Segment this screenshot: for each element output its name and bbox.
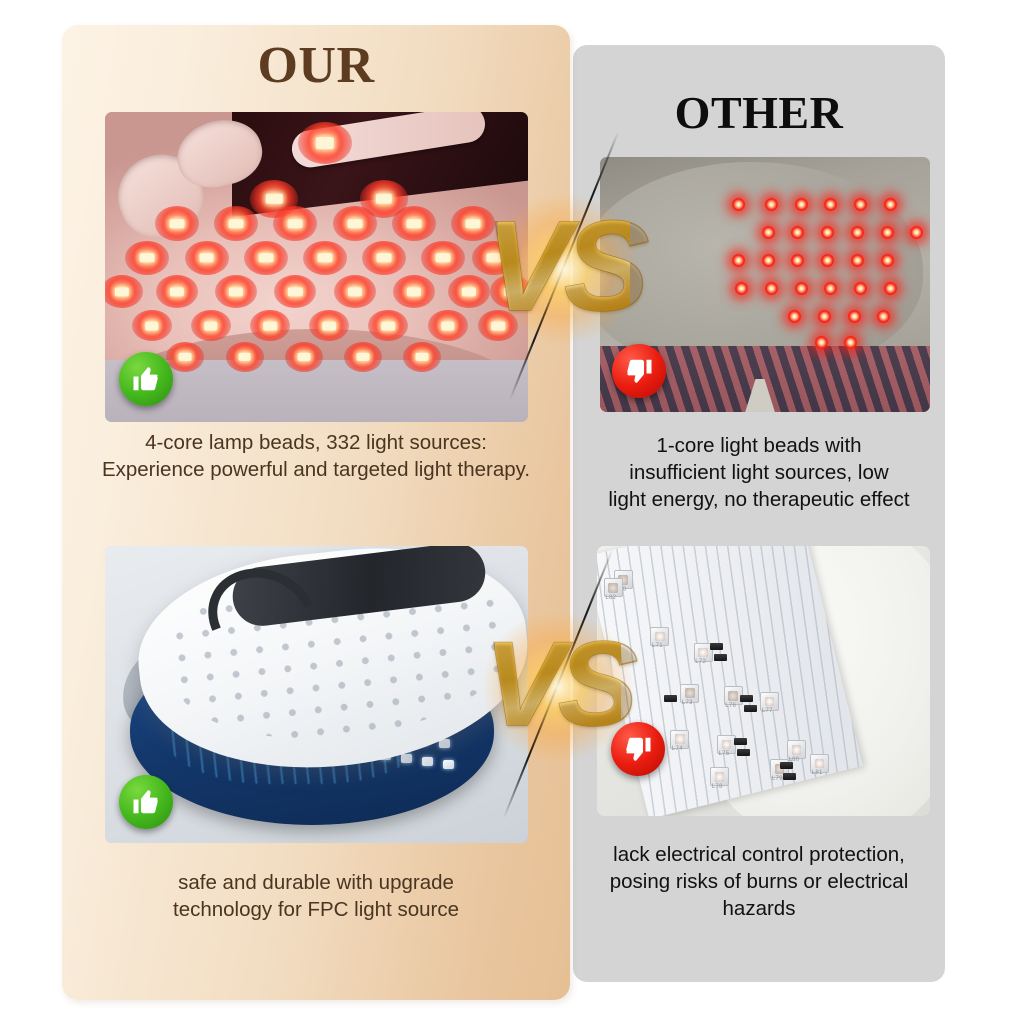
comparison-infographic: OUR OTHER xyxy=(0,0,1024,1024)
thumbs-down-icon xyxy=(623,734,653,764)
silkscreen-label: L73 xyxy=(682,700,693,706)
silkscreen-label: L71 xyxy=(652,643,663,649)
thumbs-up-icon xyxy=(131,787,161,817)
led-bead xyxy=(214,206,258,240)
caption-line: insufficient light sources, low xyxy=(578,459,940,486)
thumbs-down-badge xyxy=(611,722,665,776)
led-dot xyxy=(910,226,923,239)
led-bead xyxy=(273,206,317,240)
led-bead xyxy=(303,241,347,275)
led-dot xyxy=(765,282,778,295)
led-dot xyxy=(815,336,828,349)
other-title: OTHER xyxy=(573,86,945,139)
resistor xyxy=(783,773,796,780)
thumbs-up-icon xyxy=(131,364,161,394)
led-bead xyxy=(421,241,465,275)
led-bead xyxy=(428,310,468,341)
led-dot xyxy=(795,282,808,295)
led-bead xyxy=(393,275,435,308)
thumbs-up-badge xyxy=(119,775,173,829)
silkscreen-label: L79 xyxy=(772,776,783,782)
led-bead xyxy=(244,241,288,275)
led-bead xyxy=(298,122,352,164)
led-dot xyxy=(881,226,894,239)
resistor xyxy=(744,705,757,712)
silkscreen-label: L77 xyxy=(762,708,773,714)
led-bead xyxy=(392,206,436,240)
led-bead xyxy=(448,275,490,308)
led-dot xyxy=(762,254,775,267)
caption-line: safe and durable with upgrade xyxy=(70,869,562,896)
led-dot xyxy=(732,254,745,267)
led-bead xyxy=(403,342,441,372)
led-bead xyxy=(156,275,198,308)
led-bead xyxy=(344,342,382,372)
led-dot xyxy=(732,198,745,211)
led-dot xyxy=(818,310,831,323)
led-bead xyxy=(362,241,406,275)
led-bead xyxy=(125,241,169,275)
led-dot xyxy=(821,226,834,239)
thumbs-up-badge xyxy=(119,352,173,406)
silkscreen-label: L76 xyxy=(725,703,736,709)
caption-line: Experience powerful and targeted light t… xyxy=(70,456,562,483)
led-chip xyxy=(422,757,433,766)
our-caption-top: 4-core lamp beads, 332 light sources: Ex… xyxy=(70,429,562,483)
resistor xyxy=(714,654,727,661)
silkscreen-label: L75 xyxy=(719,751,730,757)
resistor xyxy=(780,762,793,769)
our-photo-led-beads xyxy=(105,112,528,422)
caption-line: 1-core light beads with xyxy=(578,432,940,459)
led-dot xyxy=(795,198,808,211)
other-caption-top: 1-core light beads with insufficient lig… xyxy=(578,432,940,513)
led-dot xyxy=(851,254,864,267)
led-dot xyxy=(884,198,897,211)
led-bead xyxy=(285,342,323,372)
silkscreen-label: L81 xyxy=(812,770,823,776)
led-bead xyxy=(226,342,264,372)
led-dot xyxy=(881,254,894,267)
led-bead xyxy=(472,241,516,275)
led-bead xyxy=(185,241,229,275)
other-photo-exposed-pcb: L70L71L72L73L74L75L76L77L78L79L80L81L82 xyxy=(597,546,930,816)
caption-line: technology for FPC light source xyxy=(70,896,562,923)
our-photo-fpc-board xyxy=(105,546,528,843)
led-dot xyxy=(884,282,897,295)
silkscreen-label: L78 xyxy=(712,784,723,790)
caption-line: lack electrical control protection, xyxy=(578,841,940,868)
thumbs-down-badge xyxy=(612,344,666,398)
led-bead xyxy=(334,275,376,308)
other-photo-sparse-leds xyxy=(600,157,930,412)
led-bead xyxy=(166,342,204,372)
other-caption-bottom: lack electrical control protection, posi… xyxy=(578,841,940,922)
resistor xyxy=(740,695,753,702)
led-dot xyxy=(765,198,778,211)
led-bead xyxy=(490,275,528,308)
caption-line: light energy, no therapeutic effect xyxy=(578,486,940,513)
led-dot xyxy=(788,310,801,323)
our-caption-bottom: safe and durable with upgrade technology… xyxy=(70,869,562,923)
competitor-mask-body xyxy=(600,162,923,376)
led-dot xyxy=(854,198,867,211)
led-dot xyxy=(844,336,857,349)
led-dot xyxy=(848,310,861,323)
led-dot xyxy=(854,282,867,295)
caption-line: 4-core lamp beads, 332 light sources: xyxy=(70,429,562,456)
silkscreen-label: L72 xyxy=(695,659,706,665)
led-dot xyxy=(821,254,834,267)
led-bead xyxy=(155,206,199,240)
led-chip xyxy=(443,760,454,769)
resistor xyxy=(664,695,677,702)
resistor xyxy=(734,738,747,745)
led-bead xyxy=(333,206,377,240)
thumbs-down-icon xyxy=(624,356,654,386)
resistor xyxy=(737,749,750,756)
silkscreen-label: L74 xyxy=(672,746,683,752)
our-title: OUR xyxy=(62,36,570,95)
led-bead xyxy=(451,206,495,240)
silkscreen-label: L82 xyxy=(605,595,616,601)
led-bead xyxy=(132,310,172,341)
led-chip xyxy=(401,754,412,763)
caption-line: hazards xyxy=(578,895,940,922)
led-dot xyxy=(762,226,775,239)
led-dot xyxy=(851,226,864,239)
caption-line: posing risks of burns or electrical xyxy=(578,868,940,895)
resistor xyxy=(710,643,723,650)
